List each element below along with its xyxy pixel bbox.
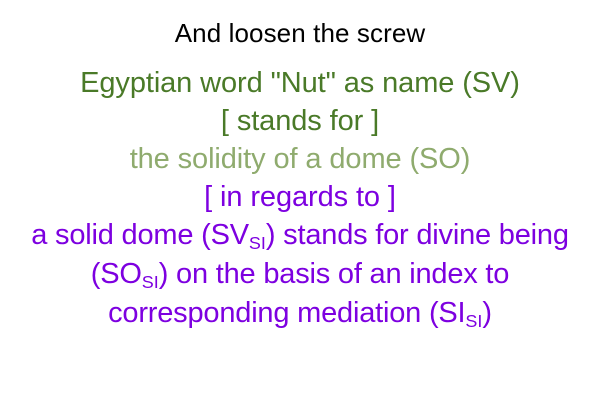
proposition-segment-4: ) [482,297,491,329]
relation-in-regards-to-line: [ in regards to ] [204,178,396,216]
sign-vehicle-line: Egyptian word "Nut" as name (SV) [80,64,520,102]
proposition-segment-3: ) on the basis of an index to correspond… [108,258,509,329]
sign-object-line: the solidity of a dome (SO) [130,140,471,178]
subscript-so-si: SI [142,272,159,292]
slide-canvas: And loosen the screw Egyptian word "Nut"… [0,0,600,400]
proposition-segment-1: a solid dome (SV [31,219,249,251]
subscript-si-si: SI [465,311,482,331]
semiotic-statement-block: Egyptian word "Nut" as name (SV) [ stand… [0,64,600,334]
slide-title: And loosen the screw [175,16,426,50]
full-semiotic-proposition: a solid dome (SVSI) stands for divine be… [20,217,580,334]
relation-stands-for-line: [ stands for ] [221,102,379,140]
subscript-sv-si: SI [249,233,266,253]
